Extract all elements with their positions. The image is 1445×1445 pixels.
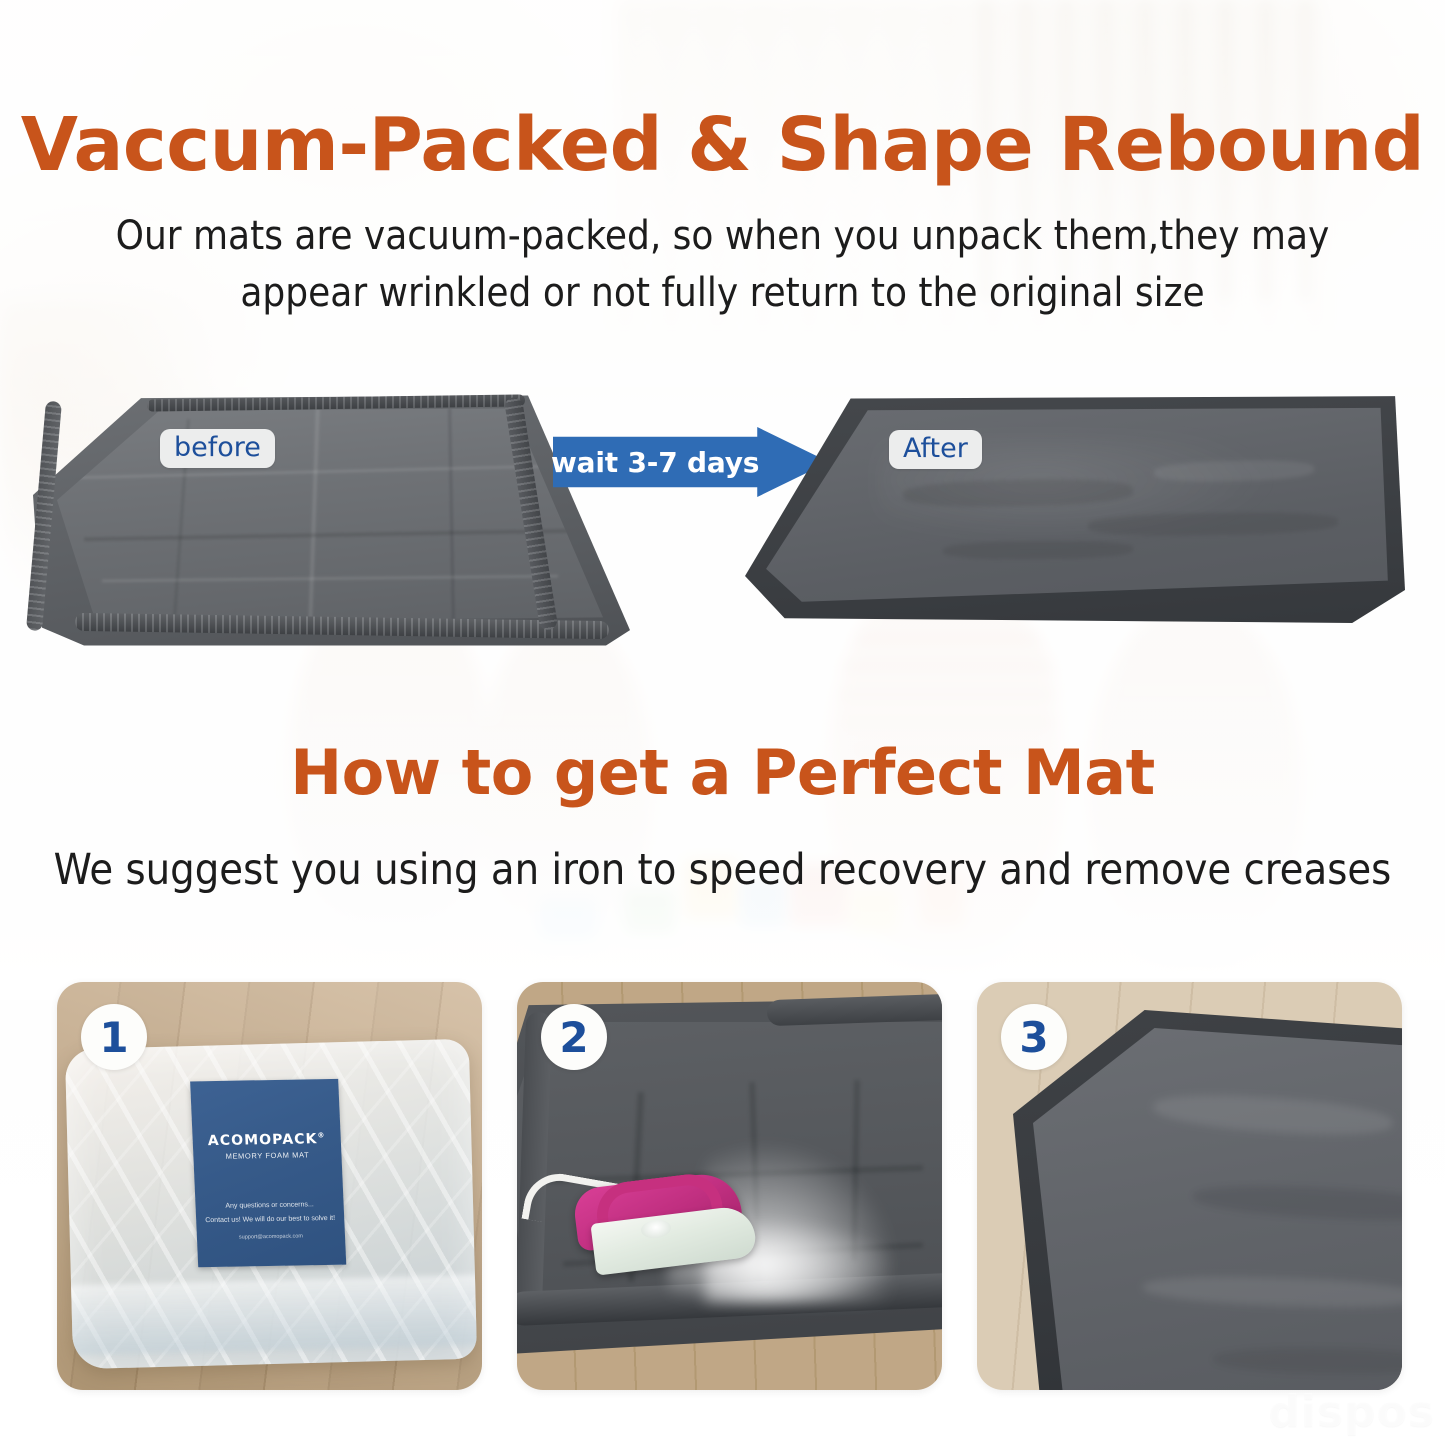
before-badge: before <box>160 429 275 468</box>
step-panels: ACOMOPACK® MEMORY FOAM MAT Any questions… <box>0 982 1445 1394</box>
registered-mark: ® <box>317 1131 325 1139</box>
section2-subtitle: We suggest you using an iron to speed re… <box>0 845 1445 895</box>
step-panel-1: ACOMOPACK® MEMORY FOAM MAT Any questions… <box>57 982 482 1390</box>
label-question-line: Any questions or concerns... <box>195 1201 343 1211</box>
after-badge: After <box>889 430 982 469</box>
section1-title: Vaccum-Packed & Shape Rebound <box>0 102 1445 188</box>
vacuum-packed-bag: ACOMOPACK® MEMORY FOAM MAT Any questions… <box>65 1039 477 1369</box>
label-email: support@acomopack.com <box>197 1233 345 1242</box>
product-package-label: ACOMOPACK® MEMORY FOAM MAT Any questions… <box>190 1079 346 1267</box>
after-mat-image <box>745 395 1405 630</box>
brand-name: ACOMOPACK® <box>192 1131 341 1150</box>
product-type: MEMORY FOAM MAT <box>193 1150 341 1162</box>
step-panel-3: 3 <box>977 982 1402 1390</box>
clothes-iron-icon <box>569 1176 749 1272</box>
label-contact-line: Contact us! We will do our best to solve… <box>196 1215 344 1225</box>
step-number-3: 3 <box>1001 1004 1067 1070</box>
section2-title: How to get a Perfect Mat <box>0 736 1445 809</box>
product-infographic: Vaccum-Packed & Shape Rebound Our mats a… <box>0 0 1445 1445</box>
step-number-2: 2 <box>541 1004 607 1070</box>
finished-mat-surface <box>1033 1028 1402 1390</box>
step-panel-2: 2 <box>517 982 942 1390</box>
step-number-1: 1 <box>81 1004 147 1070</box>
section1-subtitle-line1: Our mats are vacuum-packed, so when you … <box>0 213 1445 259</box>
before-mat-image <box>30 393 630 648</box>
brand-text: ACOMOPACK <box>207 1131 317 1149</box>
section1-subtitle-line2: appear wrinkled or not fully return to t… <box>0 270 1445 316</box>
arrow-label: wait 3-7 days <box>553 427 757 497</box>
